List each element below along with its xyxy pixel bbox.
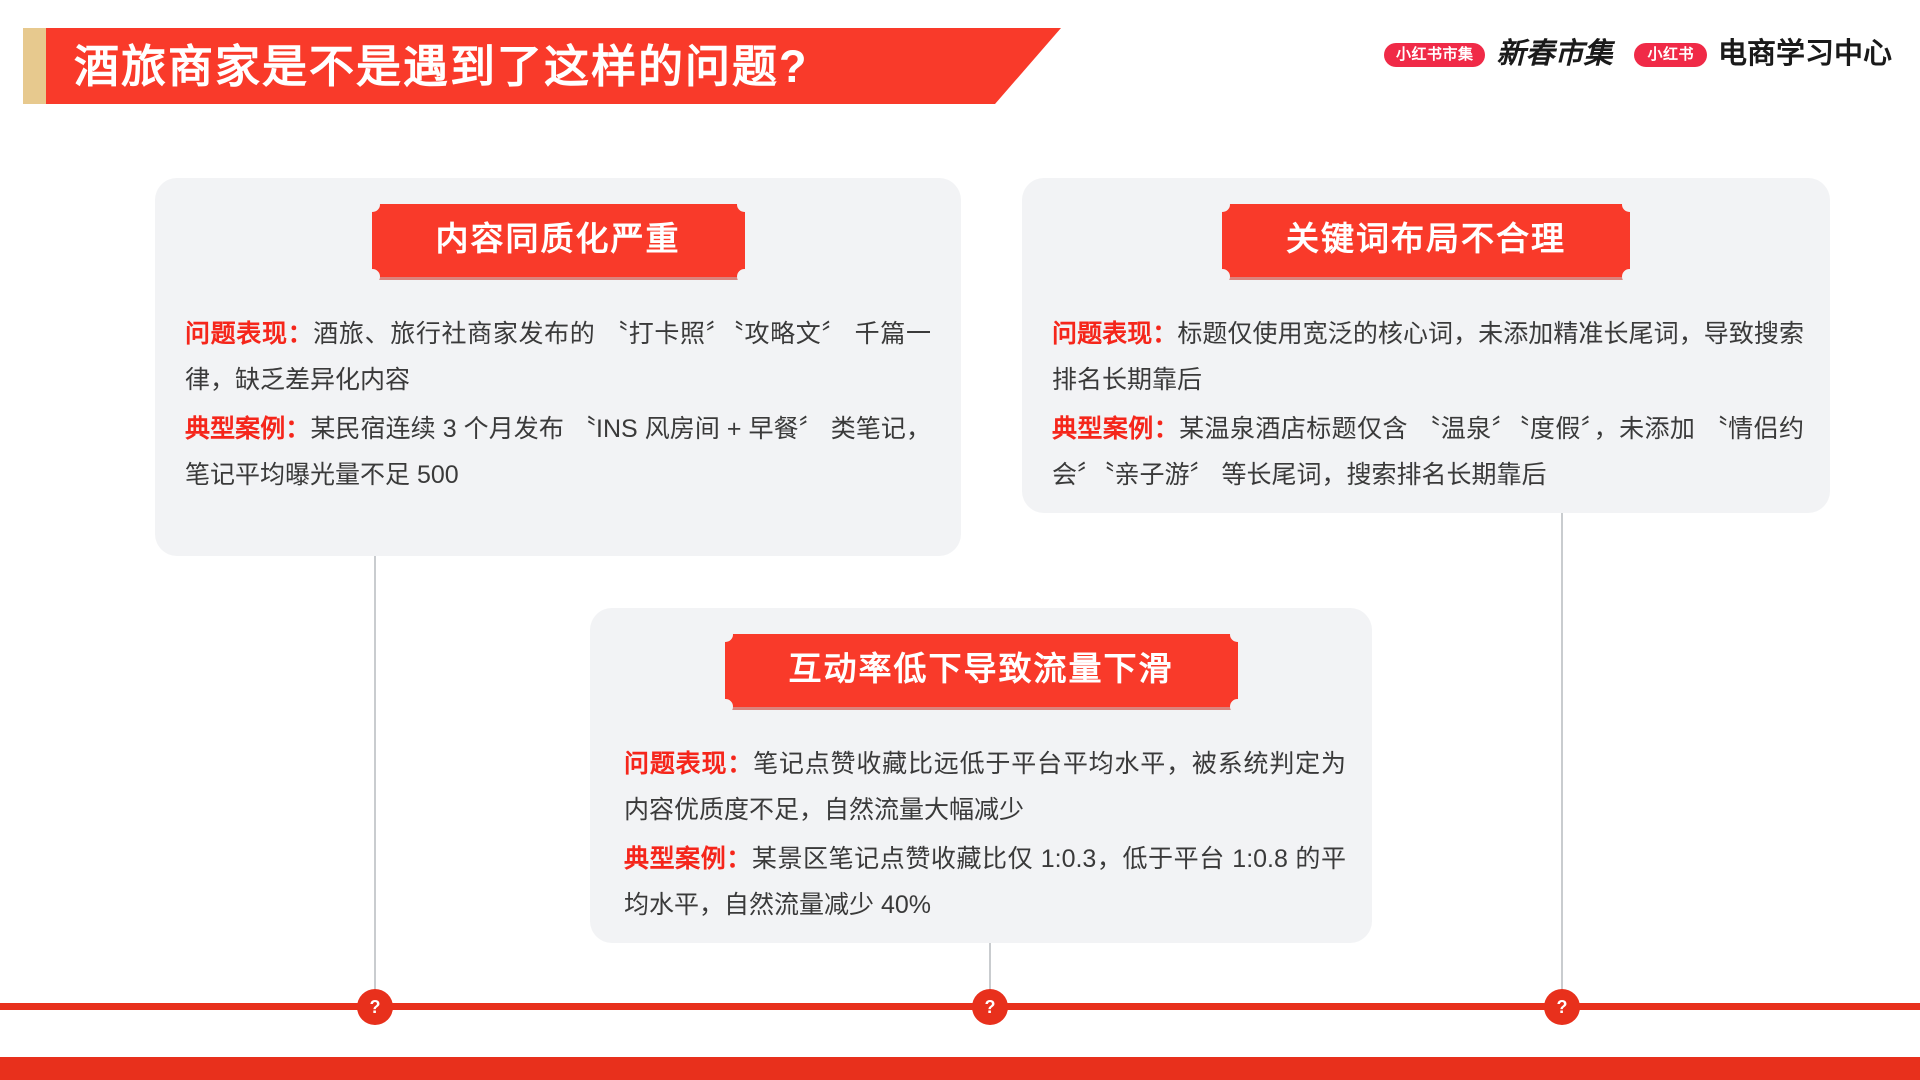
header-banner: 酒旅商家是不是遇到了这样的问题? <box>23 28 1061 104</box>
notch-corner-icon <box>737 269 752 284</box>
notch-corner-icon <box>1215 269 1230 284</box>
timeline-node[interactable]: ? <box>357 989 393 1025</box>
timeline-node[interactable]: ? <box>972 989 1008 1025</box>
notch-corner-icon <box>1215 197 1230 212</box>
notch-corner-icon <box>365 197 380 212</box>
problem-card: 互动率低下导致流量下滑 问题表现：笔记点赞收藏比远低于平台平均水平，被系统判定为… <box>590 608 1372 943</box>
case-label: 典型案例： <box>1052 415 1179 443</box>
problem-label: 问题表现： <box>185 320 313 348</box>
notch-corner-icon <box>718 699 733 714</box>
card-badge-text: 内容同质化严重 <box>436 220 681 257</box>
slide-canvas: 酒旅商家是不是遇到了这样的问题? 小红书市集 新春市集 小红书 电商学习中心 内… <box>0 0 1920 1080</box>
badge-wrap: 内容同质化严重 <box>155 178 961 277</box>
notch-corner-icon <box>1230 627 1245 642</box>
timeline-node[interactable]: ? <box>1544 989 1580 1025</box>
notch-corner-icon <box>737 197 752 212</box>
card-badge-title: 内容同质化严重 <box>372 204 745 277</box>
logo-xiaohongshu-ecom: 小红书 电商学习中心 <box>1634 40 1892 69</box>
brand-logo-row: 小红书市集 新春市集 小红书 电商学习中心 <box>1384 40 1892 69</box>
card-body: 问题表现：酒旅、旅行社商家发布的 〝打卡照〞〝攻略文〞 千篇一律，缺乏差异化内容… <box>155 277 961 499</box>
notch-corner-icon <box>1622 197 1637 212</box>
card-badge-text: 关键词布局不合理 <box>1286 220 1566 257</box>
page-title: 酒旅商家是不是遇到了这样的问题? <box>46 44 809 89</box>
notch-corner-icon <box>1622 269 1637 284</box>
case-paragraph: 典型案例：某民宿连续 3 个月发布 〝INS 风房间 + 早餐〞 类笔记，笔记平… <box>185 406 931 499</box>
timeline-rule <box>0 1003 1920 1010</box>
logo-pill-icon: 小红书 <box>1634 43 1707 67</box>
problem-paragraph: 问题表现：酒旅、旅行社商家发布的 〝打卡照〞〝攻略文〞 千篇一律，缺乏差异化内容 <box>185 311 931 404</box>
connector-line <box>374 556 376 1008</box>
case-label: 典型案例： <box>185 415 310 443</box>
card-body: 问题表现：笔记点赞收藏比远低于平台平均水平，被系统判定为内容优质度不足，自然流量… <box>590 707 1372 929</box>
notch-corner-icon <box>1230 699 1245 714</box>
logo-label: 电商学习中心 <box>1718 40 1892 69</box>
problem-card: 关键词布局不合理 问题表现：标题仅使用宽泛的核心词，未添加精准长尾词，导致搜索排… <box>1022 178 1830 513</box>
problem-paragraph: 问题表现：笔记点赞收藏比远低于平台平均水平，被系统判定为内容优质度不足，自然流量… <box>624 741 1346 834</box>
badge-wrap: 互动率低下导致流量下滑 <box>590 608 1372 707</box>
bottom-accent-bar <box>0 1057 1920 1080</box>
connector-line <box>1561 513 1563 1008</box>
card-body: 问题表现：标题仅使用宽泛的核心词，未添加精准长尾词，导致搜索排名长期靠后 典型案… <box>1022 277 1830 499</box>
timeline-node-label: ? <box>1557 998 1568 1016</box>
banner-left-strip <box>23 28 46 104</box>
problem-card: 内容同质化严重 问题表现：酒旅、旅行社商家发布的 〝打卡照〞〝攻略文〞 千篇一律… <box>155 178 961 556</box>
notch-corner-icon <box>718 627 733 642</box>
problem-paragraph: 问题表现：标题仅使用宽泛的核心词，未添加精准长尾词，导致搜索排名长期靠后 <box>1052 311 1804 404</box>
card-badge-title: 互动率低下导致流量下滑 <box>725 634 1238 707</box>
case-paragraph: 典型案例：某温泉酒店标题仅含 〝温泉〞〝度假〞，未添加 〝情侣约会〞〝亲子游〞 … <box>1052 406 1804 499</box>
timeline-node-label: ? <box>985 998 996 1016</box>
case-paragraph: 典型案例：某景区笔记点赞收藏比仅 1:0.3，低于平台 1:0.8 的平均水平，… <box>624 836 1346 929</box>
card-badge-text: 互动率低下导致流量下滑 <box>789 650 1174 687</box>
logo-label: 新春市集 <box>1496 40 1612 69</box>
card-badge-title: 关键词布局不合理 <box>1222 204 1630 277</box>
problem-label: 问题表现： <box>1052 320 1177 348</box>
logo-xiaohongshu-market: 小红书市集 新春市集 <box>1384 40 1613 69</box>
badge-wrap: 关键词布局不合理 <box>1022 178 1830 277</box>
problem-label: 问题表现： <box>624 750 753 778</box>
timeline-node-label: ? <box>370 998 381 1016</box>
notch-corner-icon <box>365 269 380 284</box>
logo-pill-icon: 小红书市集 <box>1384 43 1486 67</box>
banner-body: 酒旅商家是不是遇到了这样的问题? <box>46 28 1061 104</box>
case-label: 典型案例： <box>624 845 752 873</box>
